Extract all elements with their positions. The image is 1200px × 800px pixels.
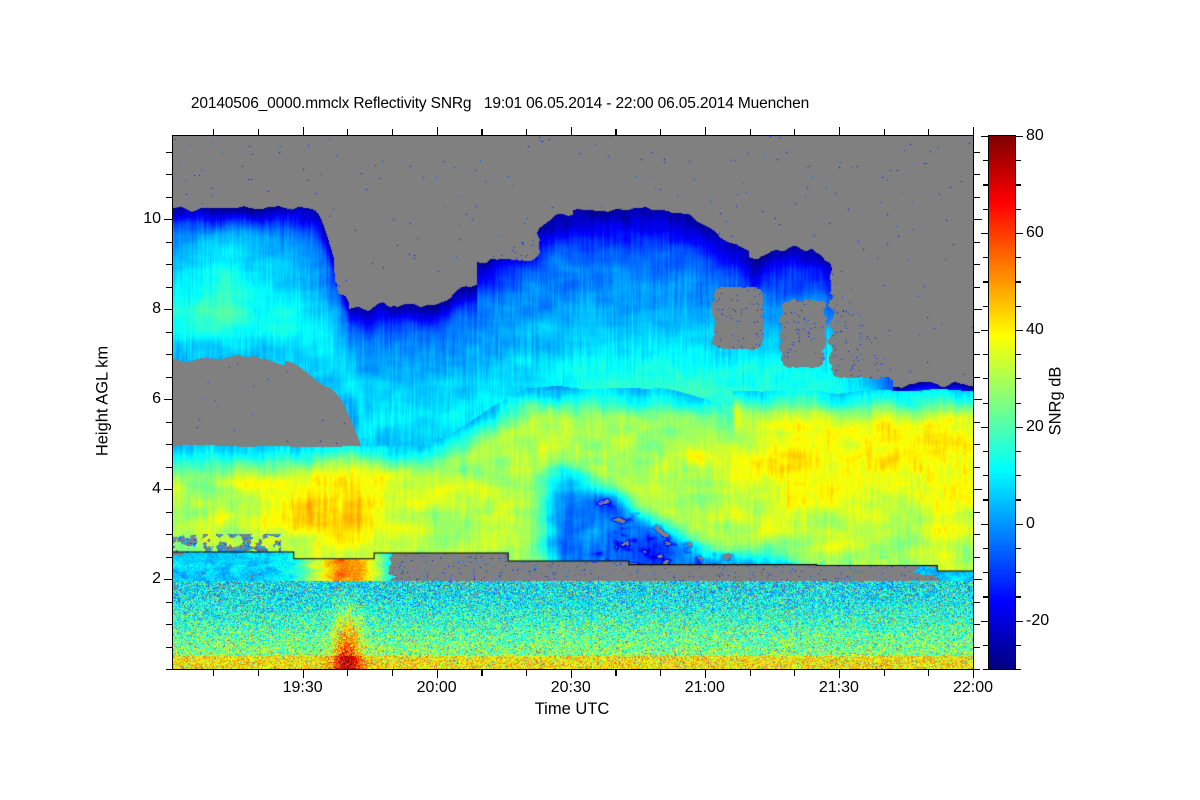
x-axis-tick xyxy=(705,669,706,678)
x-axis-tick xyxy=(839,669,840,678)
y-axis-tick xyxy=(973,242,980,243)
y-axis-tick xyxy=(166,152,173,153)
y-axis-tick xyxy=(973,579,982,580)
y-axis-tick xyxy=(973,489,982,490)
x-axis-tick xyxy=(303,127,304,136)
y-axis-tick xyxy=(973,557,980,558)
y-axis-tick xyxy=(973,467,980,468)
x-axis-tick xyxy=(303,669,304,678)
x-axis-tick xyxy=(571,669,572,678)
x-axis-tick xyxy=(526,129,527,136)
y-axis-tick xyxy=(166,624,173,625)
x-axis-tick xyxy=(928,669,929,676)
y-axis-title: Height AGL km xyxy=(94,346,113,456)
y-axis-tick xyxy=(166,669,173,670)
colorbar-tick xyxy=(983,669,989,670)
y-axis-tick xyxy=(166,377,173,378)
colorbar: -20020406080 xyxy=(988,135,1016,670)
y-axis-tick xyxy=(166,512,173,513)
x-axis-tick-label: 21:30 xyxy=(819,679,859,697)
colorbar-tick xyxy=(981,233,989,234)
x-axis-tick xyxy=(258,129,259,136)
colorbar-tick xyxy=(1015,524,1023,525)
y-axis-tick xyxy=(164,309,173,310)
colorbar-tick xyxy=(1015,427,1023,428)
colorbar-tick xyxy=(981,524,989,525)
y-axis-tick xyxy=(166,534,173,535)
colorbar-tick xyxy=(981,621,989,622)
y-axis-tick xyxy=(166,557,173,558)
x-axis-tick xyxy=(973,669,974,678)
y-axis-tick xyxy=(164,579,173,580)
y-axis-tick xyxy=(164,489,173,490)
y-axis-tick xyxy=(973,602,980,603)
colorbar-tick xyxy=(1015,621,1023,622)
x-axis-tick xyxy=(481,669,482,676)
y-axis-tick xyxy=(973,512,980,513)
y-axis-tick xyxy=(166,647,173,648)
y-axis-tick xyxy=(166,174,173,175)
colorbar-tick xyxy=(983,306,989,307)
colorbar-tick xyxy=(983,378,989,379)
x-axis-tick xyxy=(839,127,840,136)
colorbar-tick xyxy=(1015,306,1021,307)
y-axis-tick xyxy=(973,152,980,153)
colorbar-tick xyxy=(1015,669,1021,670)
y-axis-tick xyxy=(973,354,980,355)
x-axis-tick xyxy=(213,669,214,676)
colorbar-tick xyxy=(1015,184,1021,185)
x-axis-tick xyxy=(750,129,751,136)
colorbar-tick xyxy=(1015,475,1021,476)
x-axis-tick xyxy=(794,669,795,676)
x-axis-tick xyxy=(392,129,393,136)
colorbar-gradient xyxy=(989,136,1015,669)
colorbar-tick xyxy=(983,645,989,646)
x-axis-tick xyxy=(660,129,661,136)
colorbar-tick xyxy=(1015,160,1021,161)
y-axis-tick xyxy=(166,264,173,265)
y-axis-tick xyxy=(973,647,980,648)
y-axis-tick-label: 8 xyxy=(152,300,161,318)
x-axis-tick-label: 22:00 xyxy=(953,679,993,697)
y-axis-tick xyxy=(973,309,982,310)
y-axis-tick xyxy=(166,197,173,198)
colorbar-tick-label: 40 xyxy=(1026,321,1044,339)
y-axis-tick xyxy=(973,534,980,535)
colorbar-tick xyxy=(1015,281,1021,282)
x-axis-tick xyxy=(571,127,572,136)
colorbar-tick xyxy=(983,451,989,452)
y-axis-tick xyxy=(973,624,980,625)
colorbar-tick xyxy=(1015,257,1021,258)
x-axis-tick xyxy=(347,669,348,676)
x-axis-tick xyxy=(258,669,259,676)
colorbar-tick xyxy=(981,427,989,428)
colorbar-title: SNRg dB xyxy=(1047,367,1066,436)
y-axis-tick xyxy=(166,444,173,445)
x-axis-tick-label: 21:00 xyxy=(685,679,725,697)
colorbar-tick xyxy=(983,160,989,161)
y-axis-tick-label: 4 xyxy=(152,480,161,498)
colorbar-tick xyxy=(983,209,989,210)
colorbar-tick xyxy=(1015,596,1021,597)
x-axis-tick xyxy=(973,127,974,136)
y-axis-tick xyxy=(973,264,980,265)
colorbar-tick xyxy=(981,330,989,331)
colorbar-tick xyxy=(1015,330,1023,331)
x-axis-tick xyxy=(615,669,616,676)
y-axis-tick xyxy=(166,332,173,333)
colorbar-tick xyxy=(1015,354,1021,355)
y-axis-tick xyxy=(166,602,173,603)
x-axis-tick xyxy=(437,669,438,678)
x-axis-tick xyxy=(347,129,348,136)
x-axis-tick xyxy=(392,669,393,676)
x-axis-tick-label: 19:30 xyxy=(283,679,323,697)
colorbar-tick xyxy=(1015,645,1021,646)
y-axis-tick xyxy=(973,219,982,220)
x-axis-tick xyxy=(705,127,706,136)
colorbar-tick xyxy=(1015,548,1021,549)
colorbar-tick xyxy=(983,475,989,476)
colorbar-tick xyxy=(1015,499,1021,500)
x-axis-tick xyxy=(750,669,751,676)
colorbar-tick xyxy=(983,499,989,500)
x-axis-tick xyxy=(884,129,885,136)
colorbar-tick-label: 60 xyxy=(1026,224,1044,242)
colorbar-tick xyxy=(981,136,989,137)
x-axis-tick xyxy=(213,129,214,136)
y-axis-tick xyxy=(166,354,173,355)
colorbar-tick xyxy=(983,354,989,355)
colorbar-tick xyxy=(983,281,989,282)
x-axis-tick-label: 20:30 xyxy=(551,679,591,697)
y-axis-tick xyxy=(166,242,173,243)
colorbar-tick xyxy=(983,596,989,597)
colorbar-tick-label: 20 xyxy=(1026,418,1044,436)
x-axis-tick-label: 20:00 xyxy=(417,679,457,697)
y-axis-tick xyxy=(166,287,173,288)
colorbar-tick xyxy=(983,548,989,549)
x-axis-title: Time UTC xyxy=(535,700,610,719)
colorbar-tick xyxy=(1015,451,1021,452)
x-axis-tick xyxy=(481,129,482,136)
x-axis-tick xyxy=(660,669,661,676)
y-axis-tick xyxy=(973,444,980,445)
x-axis-tick xyxy=(928,129,929,136)
y-axis-tick xyxy=(166,467,173,468)
y-axis-tick xyxy=(164,219,173,220)
y-axis-tick-label: 6 xyxy=(152,390,161,408)
y-axis-tick xyxy=(973,399,982,400)
colorbar-tick xyxy=(1015,572,1021,573)
colorbar-tick xyxy=(1015,209,1021,210)
y-axis-tick xyxy=(973,197,980,198)
colorbar-tick xyxy=(1015,378,1021,379)
y-axis-tick xyxy=(166,422,173,423)
colorbar-tick xyxy=(1015,403,1021,404)
y-axis-tick xyxy=(973,422,980,423)
plot-axes: 24681019:3020:0020:3021:0021:3022:00 xyxy=(172,135,974,670)
colorbar-tick-label: 80 xyxy=(1026,127,1044,145)
x-axis-tick xyxy=(794,129,795,136)
x-axis-tick xyxy=(884,669,885,676)
colorbar-tick-label: -20 xyxy=(1026,612,1049,630)
y-axis-tick xyxy=(973,174,980,175)
radar-heatmap-canvas xyxy=(173,136,973,669)
colorbar-tick xyxy=(983,257,989,258)
y-axis-tick xyxy=(164,399,173,400)
colorbar-tick-label: 0 xyxy=(1026,515,1035,533)
x-axis-tick xyxy=(615,129,616,136)
y-axis-tick xyxy=(973,332,980,333)
x-axis-tick xyxy=(437,127,438,136)
y-axis-tick xyxy=(973,287,980,288)
page-title: 20140506_0000.mmclx Reflectivity SNRg 19… xyxy=(0,95,1000,113)
x-axis-tick xyxy=(526,669,527,676)
radar-figure: 20140506_0000.mmclx Reflectivity SNRg 19… xyxy=(0,0,1200,800)
y-axis-tick-label: 2 xyxy=(152,570,161,588)
colorbar-tick xyxy=(1015,136,1023,137)
colorbar-tick xyxy=(983,403,989,404)
y-axis-tick-label: 10 xyxy=(143,210,161,228)
y-axis-tick xyxy=(973,377,980,378)
colorbar-tick xyxy=(983,572,989,573)
colorbar-tick xyxy=(983,184,989,185)
colorbar-tick xyxy=(1015,233,1023,234)
